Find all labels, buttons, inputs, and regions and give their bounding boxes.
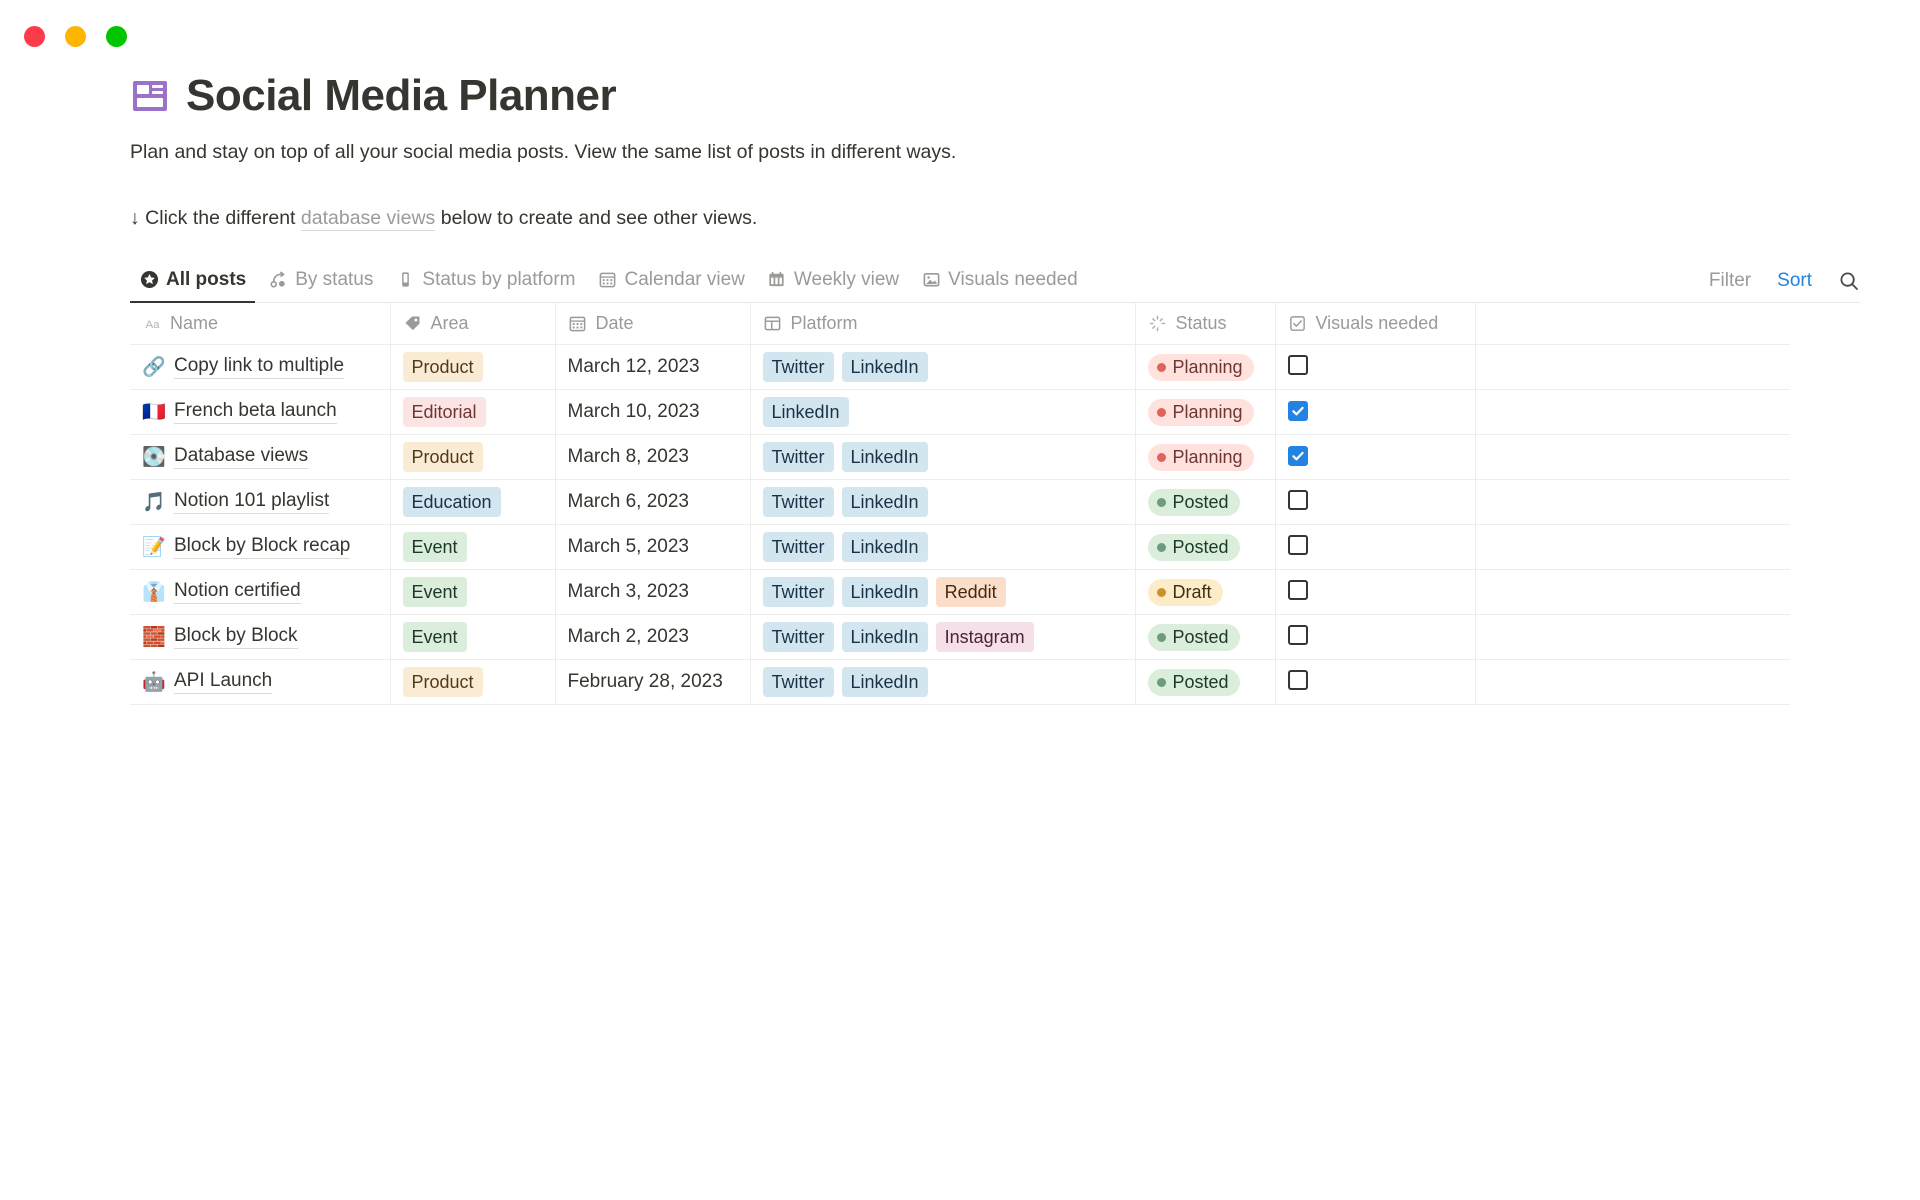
visuals-needed-checkbox[interactable] xyxy=(1288,580,1308,600)
row-emoji-icon: 🇫🇷 xyxy=(142,403,164,422)
area-tag[interactable]: Product xyxy=(403,442,483,472)
row-title-link[interactable]: Copy link to multiple xyxy=(174,355,344,379)
table-row[interactable]: 🎵Notion 101 playlistEducationMarch 6, 20… xyxy=(130,480,1790,525)
cell-date: March 12, 2023 xyxy=(555,345,750,390)
status-label: Posted xyxy=(1173,537,1229,558)
status-badge[interactable]: Draft xyxy=(1148,579,1223,606)
cell-area: Product xyxy=(390,660,555,705)
cell-date: March 10, 2023 xyxy=(555,390,750,435)
column-header-area[interactable]: Area xyxy=(390,303,555,345)
status-dot-icon xyxy=(1157,678,1166,687)
cell-status: Posted xyxy=(1135,480,1275,525)
cell-date: February 28, 2023 xyxy=(555,660,750,705)
cell-platform: TwitterLinkedInInstagram xyxy=(750,615,1135,660)
cell-area: Event xyxy=(390,525,555,570)
hint-prefix: ↓ Click the different xyxy=(130,207,301,229)
column-label: Area xyxy=(431,313,469,334)
tab-label: Status by platform xyxy=(422,269,575,291)
cell-status: Planning xyxy=(1135,390,1275,435)
status-dot-icon xyxy=(1157,453,1166,462)
date-value: March 3, 2023 xyxy=(568,581,689,602)
page-title: Social Media Planner xyxy=(186,72,616,120)
cell-visuals-needed xyxy=(1275,390,1475,435)
column-label: Status xyxy=(1176,313,1227,334)
cell-empty xyxy=(1475,435,1790,480)
status-label: Planning xyxy=(1173,402,1243,423)
platform-tag[interactable]: LinkedIn xyxy=(842,532,928,562)
tab-calendar-view[interactable]: Calendar view xyxy=(589,258,754,302)
page-description: Plan and stay on top of all your social … xyxy=(130,138,1860,167)
cell-platform: TwitterLinkedIn xyxy=(750,525,1135,570)
cell-name: 🤖API Launch xyxy=(130,660,390,705)
cell-name: 👔Notion certified xyxy=(130,570,390,615)
status-label: Posted xyxy=(1173,492,1229,513)
checkbox-icon xyxy=(1288,314,1308,334)
cell-platform: TwitterLinkedInReddit xyxy=(750,570,1135,615)
cell-visuals-needed xyxy=(1275,525,1475,570)
cell-visuals-needed xyxy=(1275,345,1475,390)
date-value: March 12, 2023 xyxy=(568,356,700,377)
status-badge[interactable]: Posted xyxy=(1148,669,1240,696)
area-tag[interactable]: Product xyxy=(403,667,483,697)
cell-empty xyxy=(1475,660,1790,705)
cell-empty xyxy=(1475,480,1790,525)
status-badge[interactable]: Planning xyxy=(1148,399,1254,426)
status-label: Planning xyxy=(1173,447,1243,468)
platform-tag[interactable]: Twitter xyxy=(763,667,834,697)
status-badge[interactable]: Planning xyxy=(1148,354,1254,381)
table-row[interactable]: 🤖API LaunchProductFebruary 28, 2023Twitt… xyxy=(130,660,1790,705)
visuals-needed-checkbox[interactable] xyxy=(1288,625,1308,645)
cell-name: 🔗Copy link to multiple xyxy=(130,345,390,390)
cell-platform: TwitterLinkedIn xyxy=(750,480,1135,525)
table-row[interactable]: 🔗Copy link to multipleProductMarch 12, 2… xyxy=(130,345,1790,390)
date-value: March 6, 2023 xyxy=(568,491,689,512)
column-header-date[interactable]: Date xyxy=(555,303,750,345)
visuals-needed-checkbox[interactable] xyxy=(1288,446,1308,466)
platform-tag[interactable]: Twitter xyxy=(763,352,834,382)
date-value: March 2, 2023 xyxy=(568,626,689,647)
platform-tag[interactable]: Instagram xyxy=(936,622,1034,652)
row-emoji-icon: 🤖 xyxy=(142,673,164,692)
page-header: Social Media Planner xyxy=(130,72,1860,120)
page-hint: ↓ Click the different database views bel… xyxy=(130,204,1860,233)
row-emoji-icon: 💽 xyxy=(142,448,164,467)
column-header-name[interactable]: Aa Name xyxy=(130,303,390,345)
cell-status: Posted xyxy=(1135,615,1275,660)
mobile-board-icon xyxy=(395,270,415,290)
area-tag[interactable]: Editorial xyxy=(403,397,486,427)
filter-button[interactable]: Filter xyxy=(1709,270,1751,292)
date-value: March 5, 2023 xyxy=(568,536,689,557)
cell-status: Posted xyxy=(1135,525,1275,570)
tab-all-posts[interactable]: All posts xyxy=(130,258,255,302)
row-title-link[interactable]: Notion certified xyxy=(174,580,301,604)
row-title-link[interactable]: API Launch xyxy=(174,670,272,694)
platform-tag[interactable]: LinkedIn xyxy=(842,667,928,697)
search-icon[interactable] xyxy=(1838,270,1860,292)
status-badge[interactable]: Posted xyxy=(1148,534,1240,561)
posts-table: Aa Name xyxy=(130,303,1790,706)
row-title-link[interactable]: Block by Block recap xyxy=(174,535,350,559)
cell-area: Product xyxy=(390,435,555,480)
area-tag[interactable]: Event xyxy=(403,622,467,652)
table-row[interactable]: 🇫🇷French beta launchEditorialMarch 10, 2… xyxy=(130,390,1790,435)
cell-empty xyxy=(1475,570,1790,615)
row-emoji-icon: 🎵 xyxy=(142,493,164,512)
hint-suffix: below to create and see other views. xyxy=(435,207,757,229)
area-tag[interactable]: Product xyxy=(403,352,483,382)
status-dot-icon xyxy=(1157,588,1166,597)
status-dot-icon xyxy=(1157,633,1166,642)
status-dot-icon xyxy=(1157,498,1166,507)
multiselect-icon xyxy=(763,314,783,334)
cell-status: Draft xyxy=(1135,570,1275,615)
platform-tag[interactable]: LinkedIn xyxy=(842,622,928,652)
cell-name: 🧱Block by Block xyxy=(130,615,390,660)
cell-visuals-needed xyxy=(1275,660,1475,705)
cell-area: Editorial xyxy=(390,390,555,435)
column-label: Date xyxy=(596,313,634,334)
cell-date: March 2, 2023 xyxy=(555,615,750,660)
cell-visuals-needed xyxy=(1275,615,1475,660)
view-tabs: All posts By status xyxy=(130,258,1087,302)
database-views-link[interactable]: database views xyxy=(301,207,435,231)
cell-date: March 8, 2023 xyxy=(555,435,750,480)
status-label: Posted xyxy=(1173,627,1229,648)
text-aa-icon: Aa xyxy=(142,314,162,334)
calendar-icon xyxy=(568,314,588,334)
cell-empty xyxy=(1475,615,1790,660)
cell-visuals-needed xyxy=(1275,435,1475,480)
cell-area: Product xyxy=(390,345,555,390)
weekly-grid-icon xyxy=(767,270,787,290)
svg-text:Aa: Aa xyxy=(145,319,160,331)
table-row[interactable]: 📝Block by Block recapEventMarch 5, 2023T… xyxy=(130,525,1790,570)
platform-tag[interactable]: Reddit xyxy=(936,577,1006,607)
cell-platform: LinkedIn xyxy=(750,390,1135,435)
status-dot-icon xyxy=(1157,543,1166,552)
status-label: Posted xyxy=(1173,672,1229,693)
tab-weekly-view[interactable]: Weekly view xyxy=(758,258,908,302)
window-layout-icon xyxy=(130,76,170,116)
cell-date: March 6, 2023 xyxy=(555,480,750,525)
star-circle-icon xyxy=(139,270,159,290)
cell-name: 🇫🇷French beta launch xyxy=(130,390,390,435)
column-header-status[interactable]: Status xyxy=(1135,303,1275,345)
area-tag[interactable]: Education xyxy=(403,487,501,517)
platform-tag[interactable]: Twitter xyxy=(763,622,834,652)
column-header-visuals-needed[interactable]: Visuals needed xyxy=(1275,303,1475,345)
visuals-needed-checkbox[interactable] xyxy=(1288,355,1308,375)
cell-platform: TwitterLinkedIn xyxy=(750,660,1135,705)
view-actions: Filter Sort xyxy=(1709,270,1860,302)
platform-tag[interactable]: Twitter xyxy=(763,487,834,517)
column-label: Name xyxy=(170,313,218,334)
sort-button[interactable]: Sort xyxy=(1777,270,1812,292)
cell-area: Event xyxy=(390,570,555,615)
platform-tag[interactable]: LinkedIn xyxy=(842,487,928,517)
row-title-link[interactable]: Block by Block xyxy=(174,625,298,649)
view-toolbar: All posts By status xyxy=(130,259,1860,303)
status-label: Planning xyxy=(1173,357,1243,378)
column-label: Platform xyxy=(791,313,858,334)
cell-status: Planning xyxy=(1135,435,1275,480)
date-value: February 28, 2023 xyxy=(568,671,723,692)
platform-tag[interactable]: Twitter xyxy=(763,442,834,472)
status-dot-icon xyxy=(1157,363,1166,372)
page-container: Social Media Planner Plan and stay on to… xyxy=(0,0,1920,705)
row-emoji-icon: 🔗 xyxy=(142,358,164,377)
row-emoji-icon: 🧱 xyxy=(142,628,164,647)
area-tag[interactable]: Event xyxy=(403,577,467,607)
status-badge[interactable]: Planning xyxy=(1148,444,1254,471)
cell-empty xyxy=(1475,390,1790,435)
tab-label: By status xyxy=(295,269,373,291)
table-header-row: Aa Name xyxy=(130,303,1790,345)
cell-visuals-needed xyxy=(1275,480,1475,525)
tab-by-status[interactable]: By status xyxy=(259,258,382,302)
visuals-needed-checkbox[interactable] xyxy=(1288,535,1308,555)
date-value: March 10, 2023 xyxy=(568,401,700,422)
cell-name: 📝Block by Block recap xyxy=(130,525,390,570)
image-icon xyxy=(921,270,941,290)
cell-status: Posted xyxy=(1135,660,1275,705)
row-title-link[interactable]: French beta launch xyxy=(174,400,337,424)
tab-label: Visuals needed xyxy=(948,269,1078,291)
status-label: Draft xyxy=(1173,582,1212,603)
row-emoji-icon: 👔 xyxy=(142,583,164,602)
cell-empty xyxy=(1475,345,1790,390)
cell-empty xyxy=(1475,525,1790,570)
table-row[interactable]: 💽Database viewsProductMarch 8, 2023Twitt… xyxy=(130,435,1790,480)
tab-visuals-needed[interactable]: Visuals needed xyxy=(912,258,1087,302)
date-value: March 8, 2023 xyxy=(568,446,689,467)
status-badge[interactable]: Posted xyxy=(1148,624,1240,651)
cell-status: Planning xyxy=(1135,345,1275,390)
tab-label: All posts xyxy=(166,269,246,291)
visuals-needed-checkbox[interactable] xyxy=(1288,401,1308,421)
status-spinner-icon xyxy=(1148,314,1168,334)
cell-platform: TwitterLinkedIn xyxy=(750,435,1135,480)
cell-name: 💽Database views xyxy=(130,435,390,480)
table-row[interactable]: 🧱Block by BlockEventMarch 2, 2023Twitter… xyxy=(130,615,1790,660)
platform-tag[interactable]: Twitter xyxy=(763,532,834,562)
visuals-needed-checkbox[interactable] xyxy=(1288,670,1308,690)
tab-label: Calendar view xyxy=(625,269,745,291)
platform-tag[interactable]: LinkedIn xyxy=(842,442,928,472)
column-label: Visuals needed xyxy=(1316,313,1439,334)
platform-tag[interactable]: LinkedIn xyxy=(763,397,849,427)
platform-tag[interactable]: LinkedIn xyxy=(842,352,928,382)
table-row[interactable]: 👔Notion certifiedEventMarch 3, 2023Twitt… xyxy=(130,570,1790,615)
tag-icon xyxy=(403,314,423,334)
row-emoji-icon: 📝 xyxy=(142,538,164,557)
area-tag[interactable]: Event xyxy=(403,532,467,562)
visuals-needed-checkbox[interactable] xyxy=(1288,490,1308,510)
status-dot-icon xyxy=(1157,408,1166,417)
tab-status-by-platform[interactable]: Status by platform xyxy=(386,258,584,302)
platform-tag[interactable]: Twitter xyxy=(763,577,834,607)
cell-area: Event xyxy=(390,615,555,660)
row-title-link[interactable]: Notion 101 playlist xyxy=(174,490,329,514)
column-header-platform[interactable]: Platform xyxy=(750,303,1135,345)
platform-tag[interactable]: LinkedIn xyxy=(842,577,928,607)
cell-date: March 3, 2023 xyxy=(555,570,750,615)
cell-visuals-needed xyxy=(1275,570,1475,615)
cell-name: 🎵Notion 101 playlist xyxy=(130,480,390,525)
column-header-add[interactable] xyxy=(1475,303,1790,345)
row-title-link[interactable]: Database views xyxy=(174,445,308,469)
group-arrow-icon xyxy=(268,270,288,290)
cell-platform: TwitterLinkedIn xyxy=(750,345,1135,390)
cell-area: Education xyxy=(390,480,555,525)
calendar-icon xyxy=(598,270,618,290)
tab-label: Weekly view xyxy=(794,269,899,291)
cell-date: March 5, 2023 xyxy=(555,525,750,570)
status-badge[interactable]: Posted xyxy=(1148,489,1240,516)
